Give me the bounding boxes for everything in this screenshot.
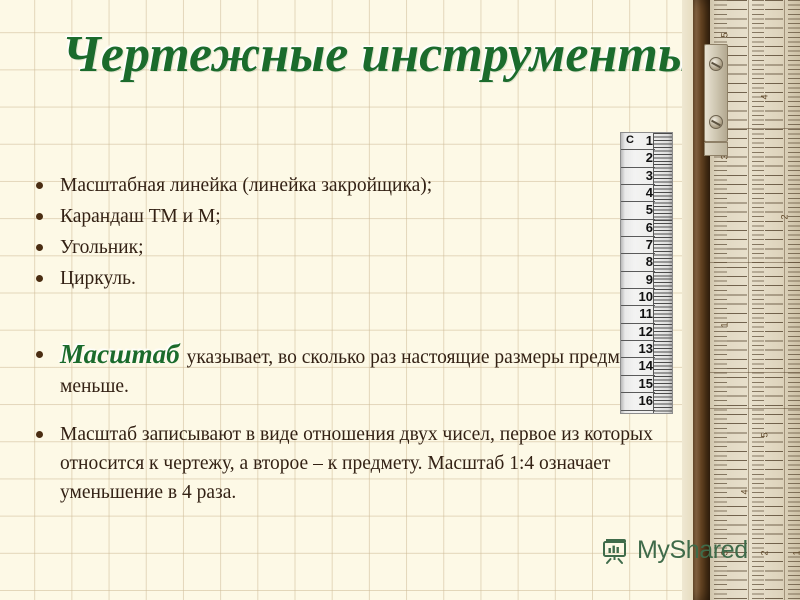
photo-ruler-divider <box>748 0 749 600</box>
scale-ruler-image: C 1 2 3 4 5 6 7 8 9 10 11 12 13 14 15 16… <box>620 132 673 414</box>
scale-ruler-ticks <box>654 133 672 413</box>
scale-ruler-number: 14 <box>639 357 653 374</box>
scale-ruler-row: 2 <box>621 150 655 167</box>
list-item: Угольник; <box>28 232 603 263</box>
scale-ruler-row: 10 <box>621 289 655 306</box>
drafting-ruler-photo: 5 4 3 2 1 5 4 3 2 1 <box>682 0 800 600</box>
watermark-text: MyShared <box>637 536 748 565</box>
scale-ruler-number: 1 <box>646 132 653 149</box>
photo-ruler-digit: 2 <box>760 550 770 555</box>
scale-ruler-row: 9 <box>621 272 655 289</box>
photo-ruler-band-line <box>710 262 800 263</box>
definition-term: Масштаб <box>60 339 187 369</box>
photo-ruler-major-ticks <box>727 0 747 600</box>
photo-ruler-digit: 4 <box>740 489 750 494</box>
scale-ruler-number: 12 <box>639 323 653 340</box>
photo-ruler-digit: 1 <box>720 322 730 327</box>
photo-ruler-band-line <box>710 408 800 409</box>
presentation-screen-icon <box>600 537 630 565</box>
scale-ruler-number: 3 <box>646 167 653 184</box>
list-item: Масштабная линейка (линейка закройщика); <box>28 170 603 201</box>
photo-ruler-major-ticks <box>765 0 783 600</box>
scale-ruler-number: 7 <box>646 236 653 253</box>
scale-ruler-row: 5 <box>621 202 655 219</box>
scale-ruler-row: 3 <box>621 168 655 185</box>
definition-list: Масштабуказывает, во сколько раз настоящ… <box>28 340 688 507</box>
scale-ruler-numbers: C 1 2 3 4 5 6 7 8 9 10 11 12 13 14 15 16… <box>621 133 655 413</box>
scale-ruler-row: 8 <box>621 254 655 271</box>
scale-ruler-number: 4 <box>646 184 653 201</box>
scale-ruler-number: 8 <box>646 253 653 270</box>
photo-ruler-brass-hinge <box>704 44 728 142</box>
photo-ruler-fine-ticks <box>752 0 764 600</box>
scale-ruler-number: 2 <box>646 149 653 166</box>
scale-ruler-number: 16 <box>639 392 653 409</box>
scale-ruler-number: 15 <box>639 375 653 392</box>
list-item: Карандаш ТМ и М; <box>28 201 603 232</box>
photo-ruler-digit: 5 <box>720 32 730 37</box>
scale-ruler-number: 9 <box>646 271 653 288</box>
scale-ruler-row: 13 <box>621 341 655 358</box>
photo-ruler-digit: 2 <box>780 214 790 219</box>
photo-ruler-band-line <box>710 372 800 373</box>
scale-ruler-row: 15 <box>621 376 655 393</box>
scale-ruler-row: 4 <box>621 185 655 202</box>
page-title: Чертежные инструменты <box>62 28 672 83</box>
photo-ruler-hinge-plate <box>704 142 728 156</box>
myshared-watermark: MyShared <box>600 536 748 565</box>
scale-ruler-number: 10 <box>639 288 653 305</box>
scale-ruler-row: 6 <box>621 220 655 237</box>
tools-list: Масштабная линейка (линейка закройщика);… <box>28 170 603 294</box>
photo-ruler-fine-ticks <box>788 0 800 600</box>
photo-ruler-margin <box>682 0 693 600</box>
scale-ruler-number: 5 <box>646 201 653 218</box>
photo-ruler-divider <box>784 0 785 600</box>
scale-ruler-row: 14 <box>621 358 655 375</box>
scale-ruler-row: 11 <box>621 306 655 323</box>
scale-ruler-number: 13 <box>639 340 653 357</box>
scale-ruler-number: 11 <box>639 305 653 322</box>
notation-item: Масштаб записывают в виде отношения двух… <box>28 420 688 507</box>
scale-ruler-tick-strip <box>653 133 672 413</box>
scale-ruler-number: 6 <box>646 219 653 236</box>
hinge-screw-icon <box>709 57 723 71</box>
photo-ruler-digit: 4 <box>760 94 770 99</box>
photo-ruler-digit: 1 <box>792 550 800 555</box>
scale-ruler-row: 7 <box>621 237 655 254</box>
scale-ruler-row: 1 <box>621 133 655 150</box>
photo-ruler-digit: 5 <box>760 432 770 437</box>
scale-ruler-row: 16 <box>621 393 655 410</box>
scale-ruler-row: 12 <box>621 324 655 341</box>
hinge-screw-icon <box>709 115 723 129</box>
slide-canvas: Чертежные инструменты Масштабная линейка… <box>0 0 800 600</box>
list-item: Циркуль. <box>28 263 603 294</box>
definition-item: Масштабуказывает, во сколько раз настоящ… <box>28 340 688 401</box>
